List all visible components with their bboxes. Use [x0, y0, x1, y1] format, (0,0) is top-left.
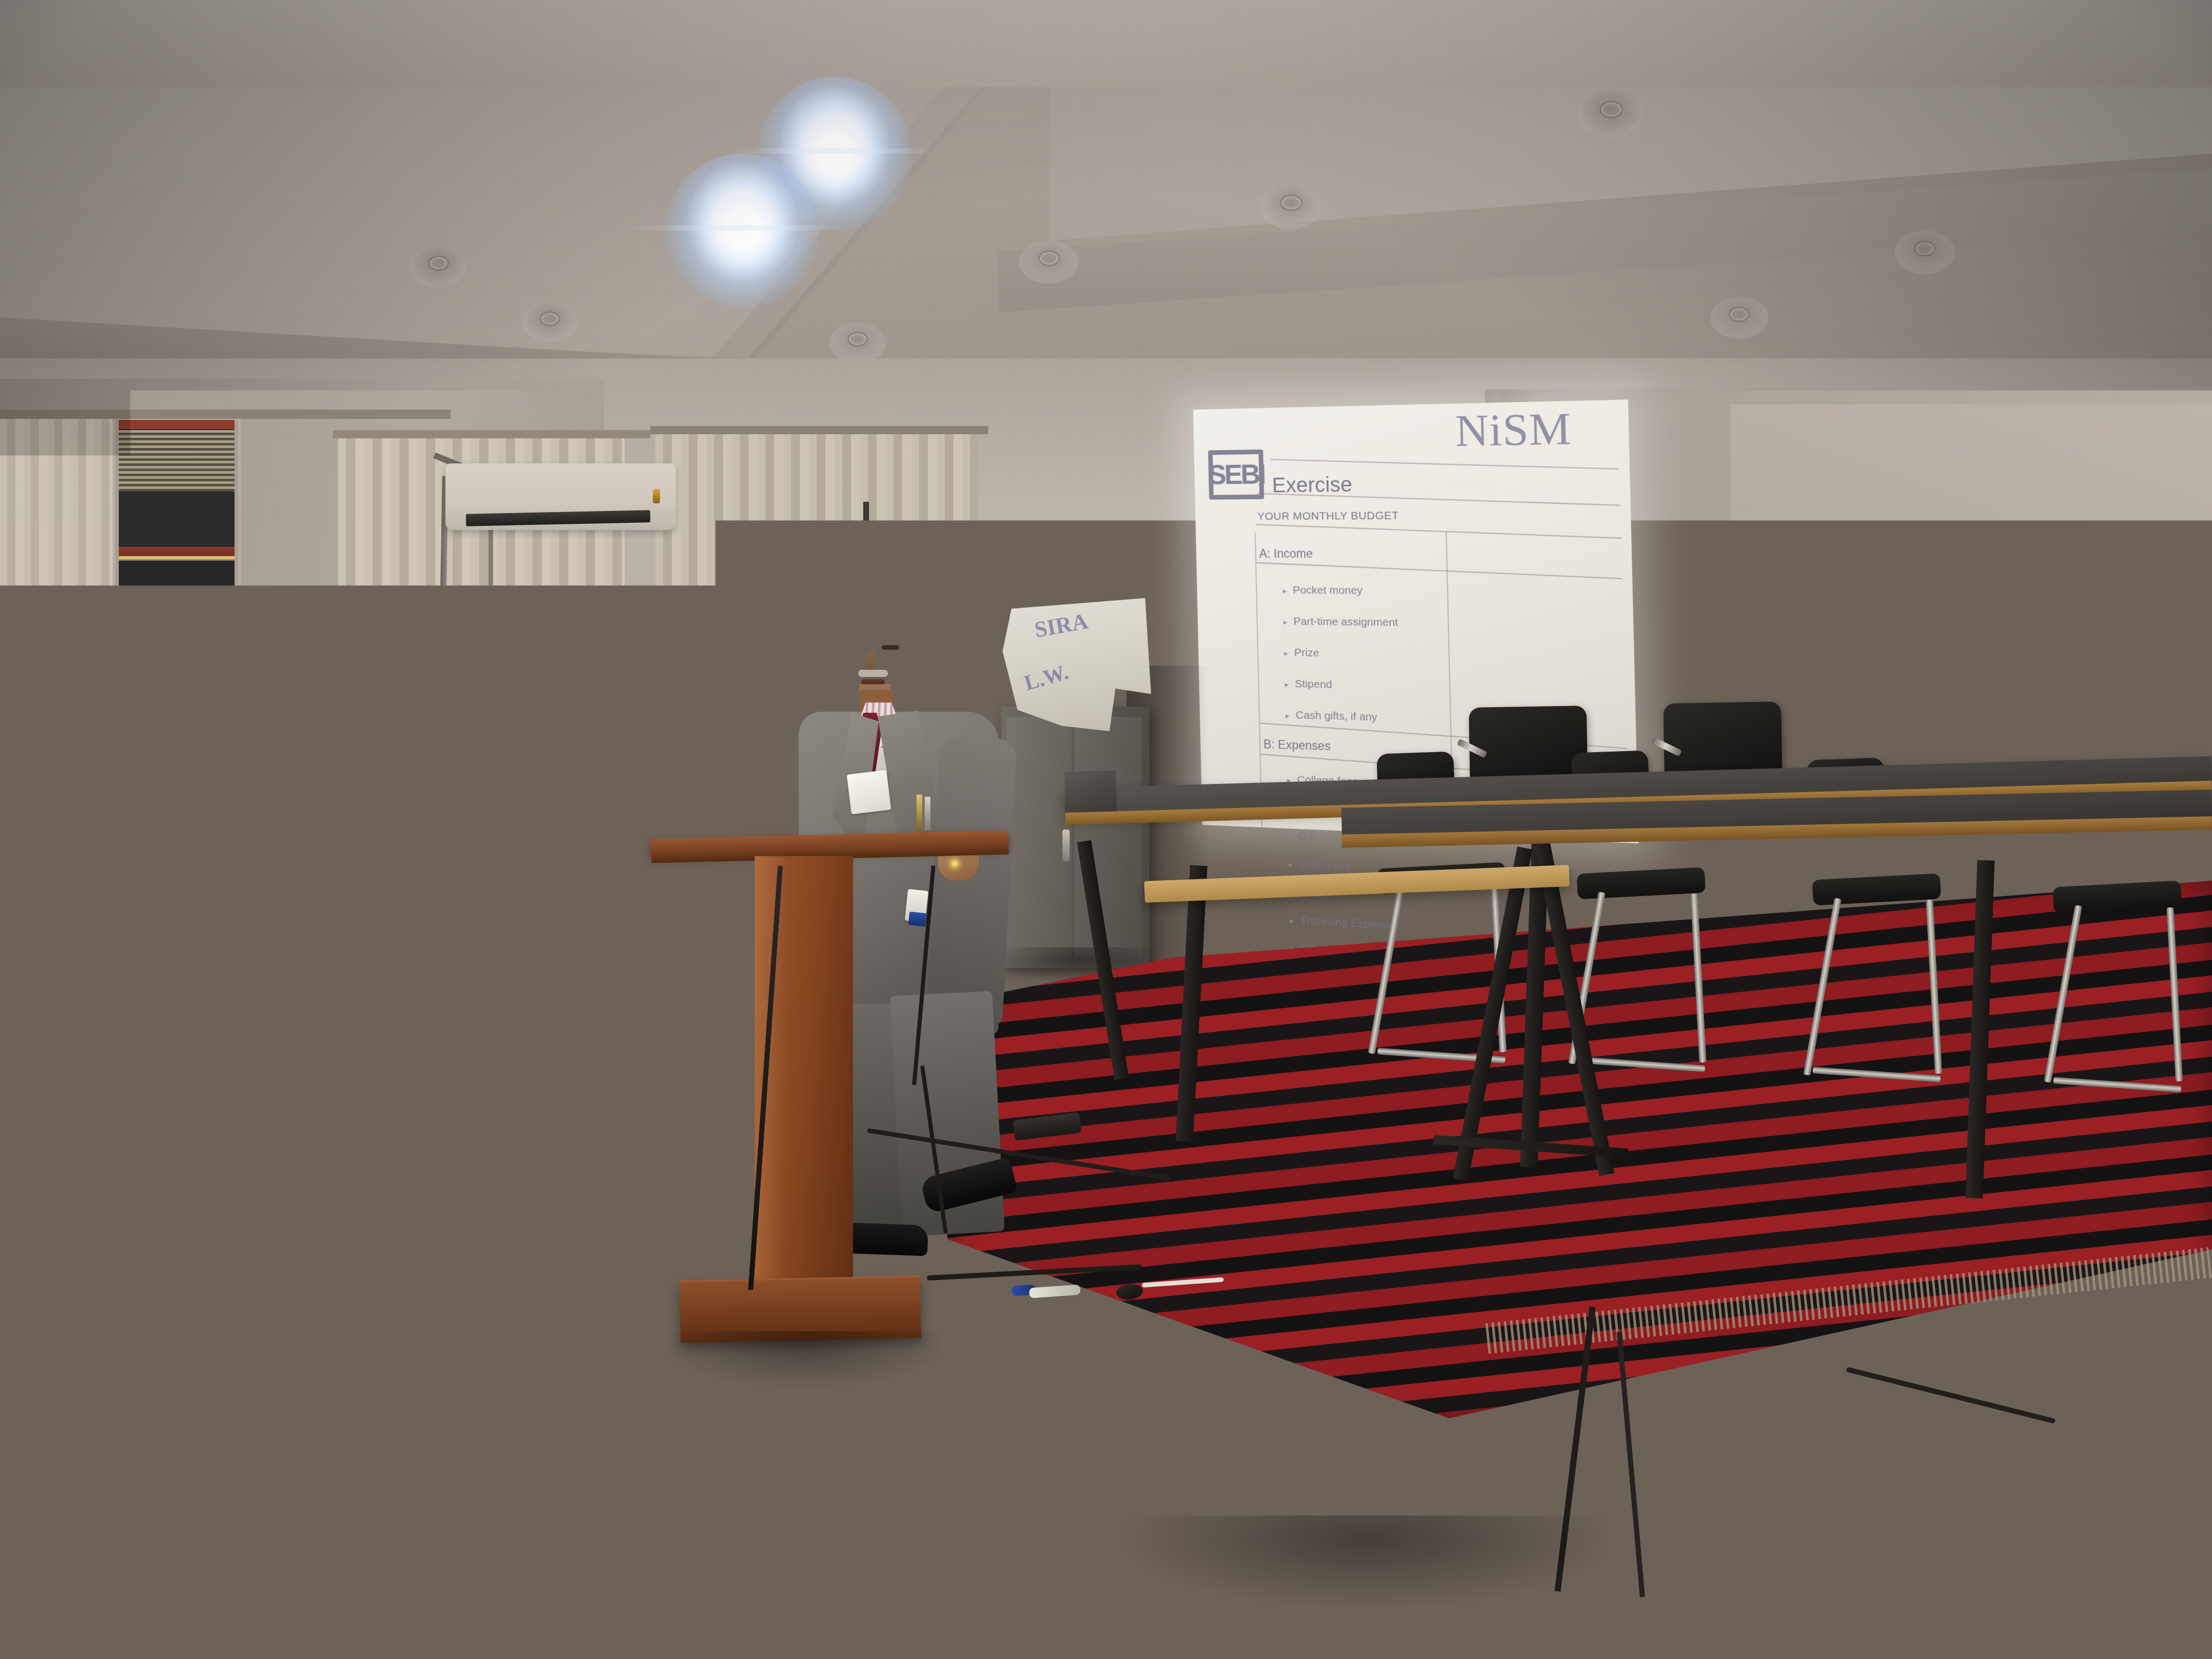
seminar-hall-photo: NiSM SEBI Exercise YOUR MONTHLY BUDGET A…	[0, 0, 2212, 1659]
speaker-eye	[882, 645, 899, 650]
speaker-moustache	[858, 670, 888, 677]
pocket-pen	[917, 795, 922, 831]
ceiling-downlight-off-ring	[1600, 101, 1623, 118]
equipment-table-leg	[722, 896, 730, 1045]
window-mullion-trim	[119, 556, 235, 560]
slide-bullet: Gift	[1288, 829, 1316, 843]
lectern-side-panel	[1392, 894, 1571, 1487]
backpack	[333, 927, 379, 1016]
slide-bullet: Prize	[1284, 647, 1320, 660]
flag-furled	[784, 585, 802, 749]
ceiling-downlight-off-ring	[540, 311, 560, 326]
slide-bullet: Stipend	[1285, 678, 1332, 691]
lectern-corner-edge	[1389, 888, 1395, 1482]
ceiling-downlight-off-ring	[847, 332, 868, 347]
ceiling-downlight-off-ring	[1038, 250, 1060, 266]
keyboard[interactable]	[381, 853, 489, 874]
slide-bullet: Cash gifts, if any	[1285, 709, 1377, 724]
speaker-ear	[900, 643, 914, 663]
ceiling-downlight-flare	[732, 148, 937, 154]
podium-shadow	[666, 1331, 942, 1388]
speaker-head	[845, 610, 909, 690]
podium-column-highlight	[755, 856, 786, 1302]
lectern-front-panel	[1155, 886, 1395, 1480]
curtain-rail	[333, 430, 650, 438]
laptop-brand-logo-icon	[758, 781, 775, 798]
slide-rule	[1271, 459, 1619, 469]
lapel-mic-transmitter-band	[908, 911, 927, 926]
slide-section-heading: B: Expenses	[1263, 737, 1331, 753]
ac-indicator-led	[653, 489, 660, 503]
flag-finial	[756, 526, 763, 537]
pocket-pen	[925, 797, 930, 831]
curtain-rod	[650, 426, 988, 434]
window-glass	[119, 561, 235, 714]
slide-subtitle: YOUR MONTHLY BUDGET	[1257, 509, 1399, 523]
sebi-logo: SEBI	[1208, 450, 1264, 500]
flag-finial	[789, 561, 796, 571]
flipchart-board	[0, 634, 51, 938]
microphone-icon	[816, 660, 840, 680]
window-valance	[119, 420, 235, 429]
cabinet-door	[1074, 717, 1142, 958]
slide-bullet: Part-time assignment	[1283, 615, 1398, 629]
slide-rule	[1257, 562, 1623, 579]
ceiling-downlight-off-ring	[1729, 307, 1750, 322]
curtain-rod	[0, 410, 451, 419]
lectern-base-front	[1158, 1500, 1399, 1538]
lectern-base-side	[1397, 1505, 1575, 1546]
speaker-right-arm	[925, 735, 1017, 1026]
conference-table-end	[1065, 771, 1117, 813]
flag-finial	[862, 563, 869, 573]
slide-rule	[1257, 493, 1620, 506]
ceiling-downlight-flare	[630, 225, 845, 230]
window-blind	[119, 430, 235, 492]
power-led-icon	[519, 788, 527, 796]
slide-rule	[1256, 524, 1622, 539]
pc-tower-top	[466, 779, 515, 789]
pc-drive-bay	[550, 809, 557, 814]
slide-bullet: Pocket money	[1283, 584, 1363, 597]
slide-section-heading: A: Income	[1259, 547, 1313, 561]
cabinet-door	[1006, 717, 1072, 958]
attendee-shoe	[239, 1043, 312, 1071]
speaker-name-badge	[847, 770, 891, 815]
microphone-collar	[815, 672, 841, 677]
ceiling-downlight-off-ring	[1280, 195, 1303, 211]
flag-finial	[842, 562, 849, 572]
cabinet-handle[interactable]	[1062, 829, 1070, 861]
laptop-power-led-icon	[706, 829, 713, 833]
speaker-ring	[950, 859, 959, 868]
nism-logo: NiSM	[1455, 402, 1601, 454]
ceiling-downlight-off-ring	[1914, 241, 1936, 257]
chair-maroon-back[interactable]	[74, 845, 172, 967]
ceiling-outer-band	[0, 0, 2212, 87]
ceiling-downlight-off-ring	[428, 256, 449, 271]
